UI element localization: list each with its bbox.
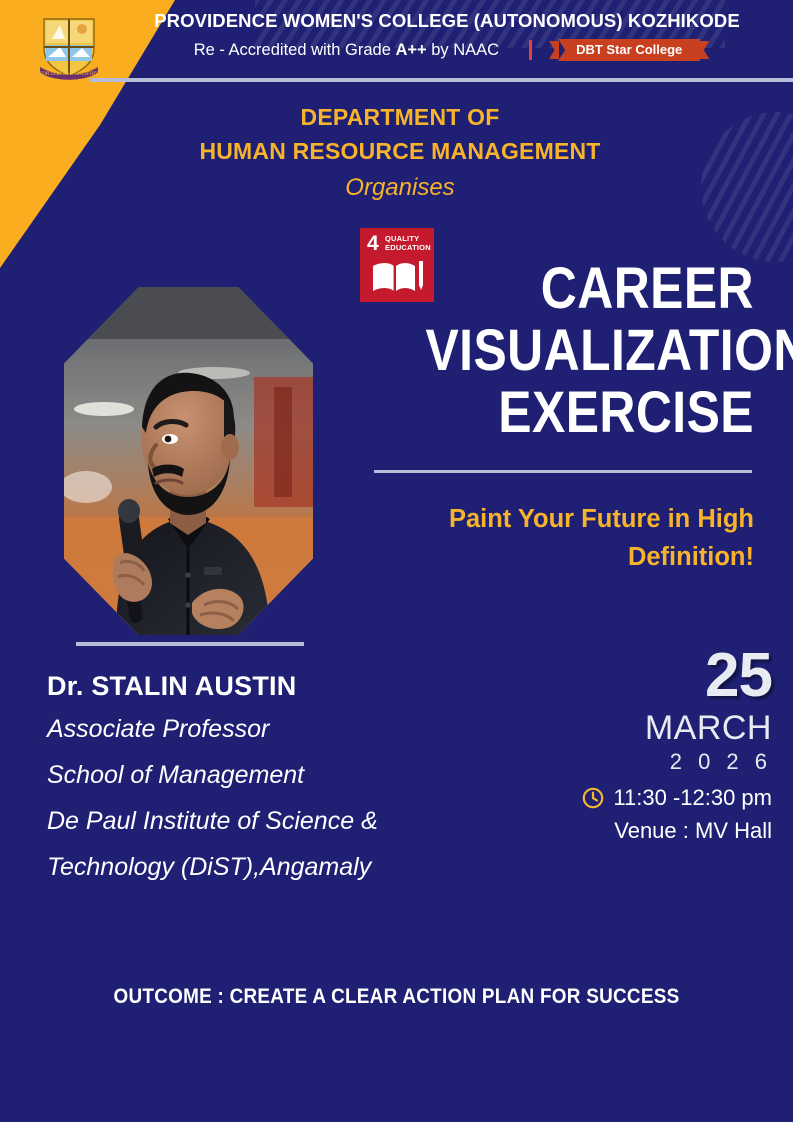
event-date-block: 25 MARCH 2 0 2 6 11:30 -12:30 pm Venue :… — [520, 645, 772, 848]
speaker-photo — [64, 287, 313, 635]
event-poster: FOR GOD AND COUNTRY PROVIDENCE WOMEN'S C… — [0, 0, 793, 1122]
speaker-name: Dr. STALIN AUSTIN — [47, 666, 547, 706]
event-day: 25 — [520, 645, 772, 707]
event-title-block: CAREER VISUALIZATION EXERCISE — [372, 258, 754, 444]
svg-text:FOR GOD AND COUNTRY: FOR GOD AND COUNTRY — [40, 72, 99, 77]
event-title-line-3: EXERCISE — [425, 382, 754, 444]
event-venue: Venue : MV Hall — [520, 814, 772, 848]
speaker-divider-rule — [76, 642, 304, 646]
tagline-line-2: Definition! — [372, 538, 754, 576]
sdg-number: 4 — [367, 233, 379, 254]
event-title-line-2: VISUALIZATION — [425, 320, 754, 382]
organises-label: Organises — [100, 170, 700, 206]
clock-icon — [581, 786, 605, 810]
speaker-institute-line-2: Technology (DiST),Angamaly — [47, 844, 547, 890]
header-divider-rule — [90, 78, 793, 82]
accreditation-prefix: Re - Accredited with Grade — [194, 41, 396, 59]
event-year: 2 0 2 6 — [520, 748, 772, 776]
title-divider-rule — [374, 470, 752, 473]
department-line-2: HUMAN RESOURCE MANAGEMENT — [100, 134, 700, 168]
speaker-designation: Associate Professor — [47, 706, 547, 752]
sdg-label: QUALITY EDUCATION — [385, 234, 431, 252]
vertical-divider — [529, 40, 532, 60]
dbt-star-college-badge: DBT Star College — [558, 39, 700, 61]
event-month: MARCH — [520, 709, 772, 747]
speaker-details-block: Dr. STALIN AUSTIN Associate Professor Sc… — [47, 666, 547, 890]
event-title-line-1: CAREER — [425, 258, 754, 320]
accreditation-text: Re - Accredited with Grade A++ by NAAC — [194, 39, 499, 61]
sdg-label-line-2: EDUCATION — [385, 243, 431, 252]
event-outcome: OUTCOME : CREATE A CLEAR ACTION PLAN FOR… — [40, 985, 754, 1009]
department-block: DEPARTMENT OF HUMAN RESOURCE MANAGEMENT … — [100, 100, 700, 206]
department-line-1: DEPARTMENT OF — [100, 100, 700, 134]
accreditation-grade: A++ — [395, 41, 426, 59]
college-crest-icon: FOR GOD AND COUNTRY — [38, 13, 100, 81]
accreditation-suffix: by NAAC — [427, 41, 499, 59]
header-text-group: PROVIDENCE WOMEN'S COLLEGE (AUTONOMOUS) … — [112, 8, 782, 61]
event-time: 11:30 -12:30 pm — [613, 784, 772, 812]
poster-header: FOR GOD AND COUNTRY PROVIDENCE WOMEN'S C… — [0, 0, 793, 88]
speaker-institute-line-1: De Paul Institute of Science & — [47, 798, 547, 844]
event-tagline: Paint Your Future in High Definition! — [372, 500, 754, 576]
sdg-label-line-1: QUALITY — [385, 234, 431, 243]
speaker-school: School of Management — [47, 752, 547, 798]
event-time-row: 11:30 -12:30 pm — [520, 784, 772, 812]
college-name: PROVIDENCE WOMEN'S COLLEGE (AUTONOMOUS) … — [112, 8, 782, 34]
tagline-line-1: Paint Your Future in High — [372, 500, 754, 538]
dbt-badge-label: DBT Star College — [558, 39, 700, 61]
accreditation-row: Re - Accredited with Grade A++ by NAAC D… — [112, 39, 782, 61]
